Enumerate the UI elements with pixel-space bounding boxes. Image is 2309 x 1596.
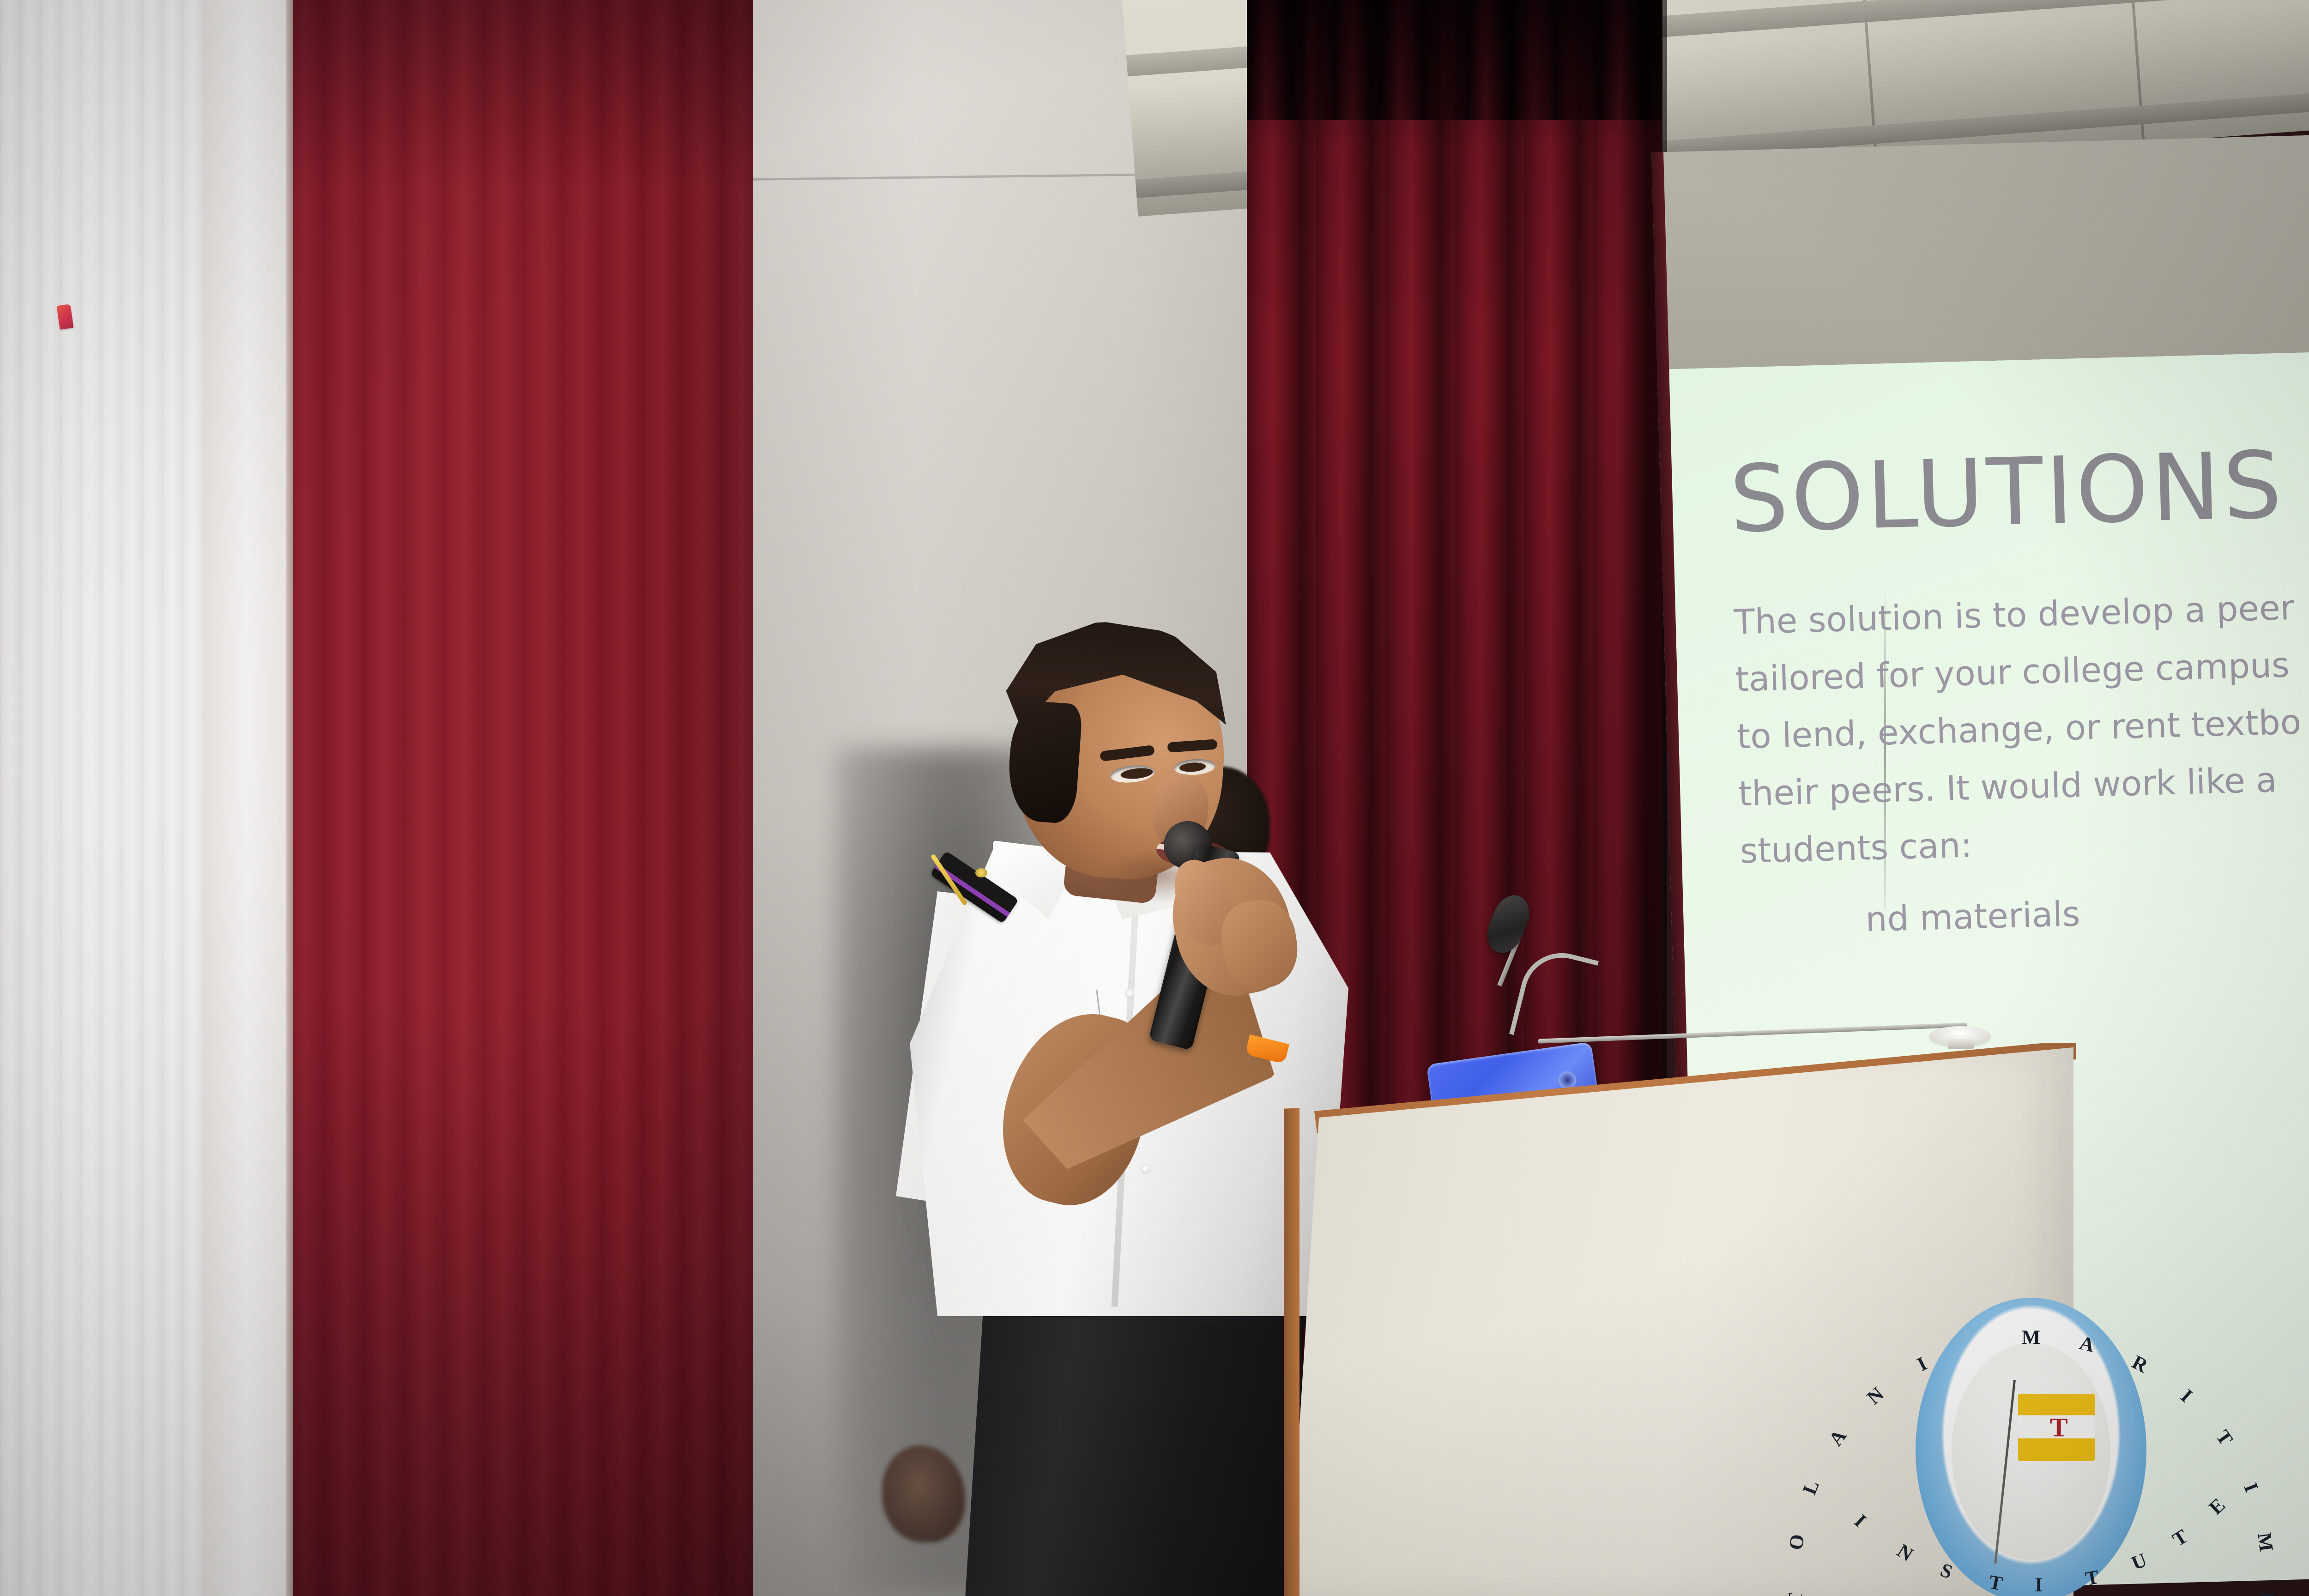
slide-title: SOLUTIONS [1729, 431, 2286, 553]
screen-top-band [1651, 133, 2309, 369]
presentation-photo-scene: SOLUTIONS The solution is to develop a p… [0, 0, 2309, 1596]
slide-body-text: The solution is to develop a peer tailor… [1733, 573, 2309, 880]
microphone-base-collar [1948, 1039, 1974, 1049]
logo-arc-char: E [2254, 1591, 2278, 1596]
white-wall-column [203, 0, 300, 1596]
logo-arc-char: M [2253, 1531, 2278, 1553]
logo-arc-char: T [1987, 1571, 2004, 1595]
speaker-trousers [965, 1302, 1302, 1596]
logo-arc-char: O [1785, 1533, 1809, 1551]
red-stage-panel [286, 0, 757, 1596]
slide-bullet-item: nd materials [1865, 879, 2309, 939]
logo-arc-char: T [2084, 1566, 2101, 1590]
podium-left-edge [1284, 1108, 1300, 1596]
logo-arc-char: I [2035, 1574, 2043, 1596]
tolani-maritime-institute-logo: T TOLANI MARITIME INSTITUTE [1916, 1298, 2146, 1596]
shirt-button [1141, 1164, 1150, 1173]
logo-arc-char: S [1937, 1559, 1956, 1584]
logo-arc-text-bottom: INSTITUTE [1916, 1298, 2146, 1596]
epaulette-button [975, 868, 987, 877]
red-panel-left-edge [286, 0, 293, 1596]
curtain-top-pleats [1247, 0, 1662, 120]
